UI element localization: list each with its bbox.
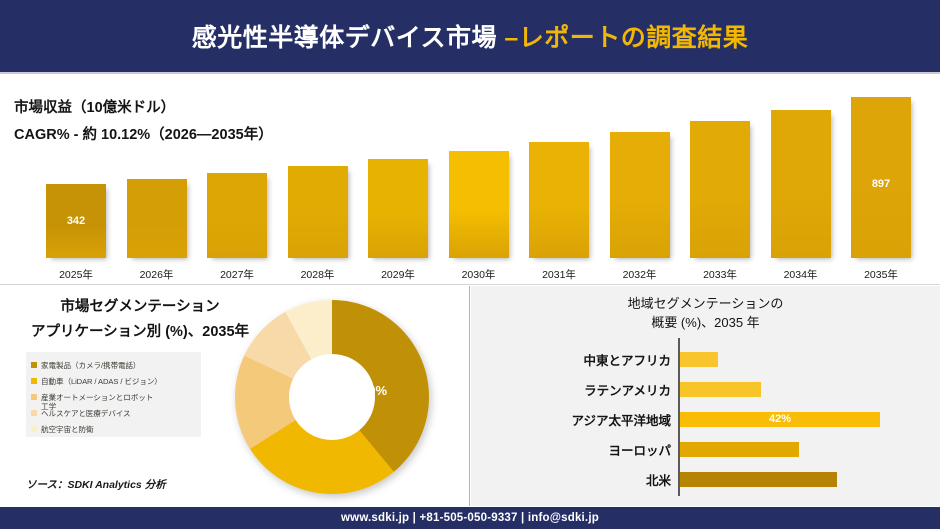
page-title-sub: –レポートの調査結果 <box>504 24 748 52</box>
regional-bar <box>680 352 718 367</box>
revenue-bar <box>449 151 509 258</box>
page-header: 感光性半導体デバイス市場 –レポートの調査結果 <box>0 0 940 74</box>
legend-item-overlap-label: 工学 <box>41 401 56 412</box>
legend-item: ヘルスケアと医療デバイス工学 <box>31 405 197 421</box>
regional-chart-title-line2: 概要 (%)、2035 年 <box>471 313 940 332</box>
application-chart-legend: 家電製品（カメラ/携帯電話）自動車（LiDAR / ADAS / ビジョン）産業… <box>26 352 201 437</box>
legend-item: 航空宇宙と防衛 <box>31 421 197 437</box>
application-chart-title: 市場セグメンテーション アプリケーション別 (%)、2035年 <box>10 295 270 345</box>
revenue-bar <box>207 173 267 258</box>
legend-item-label: 家電製品（カメラ/携帯電話） <box>41 360 140 371</box>
source-note: ソース：SDKI Analytics 分析 <box>26 477 166 492</box>
revenue-bar-wrapper <box>610 88 670 258</box>
revenue-bar-column: 8972035年 <box>841 76 921 285</box>
revenue-bar-wrapper <box>449 88 509 258</box>
revenue-bar-chart-panel: 市場収益（10億米ドル） CAGR% - 約 10.12%（2026—2035年… <box>0 76 940 285</box>
regional-category-label: アジア太平洋地域 <box>471 410 671 429</box>
revenue-bar-wrapper: 342 <box>46 88 106 258</box>
revenue-bar-wrapper <box>127 88 187 258</box>
regional-bar-row: 北米 <box>471 464 940 494</box>
legend-color-swatch <box>31 362 37 368</box>
regional-chart-title: 地域セグメンテーションの 概要 (%)、2035 年 <box>471 294 940 332</box>
legend-item: 家電製品（カメラ/携帯電話） <box>31 357 197 373</box>
legend-item-label: 航空宇宙と防衛 <box>41 424 93 435</box>
regional-bars-area: 中東とアフリカラテンアメリカアジア太平洋地域42%ヨーロッパ北米 <box>471 338 940 498</box>
revenue-bar <box>690 121 750 258</box>
regional-bar <box>680 472 837 487</box>
revenue-bar-category-label: 2033年 <box>703 265 737 285</box>
legend-item: 自動車（LiDAR / ADAS / ビジョン） <box>31 373 197 389</box>
legend-color-swatch <box>31 378 37 384</box>
revenue-bar-column: 2034年 <box>761 76 841 285</box>
revenue-bar-column: 2031年 <box>519 76 599 285</box>
revenue-bar-category-label: 2027年 <box>220 265 254 285</box>
revenue-bar <box>610 132 670 258</box>
regional-bar-row: ラテンアメリカ <box>471 374 940 404</box>
application-chart-title-line2: アプリケーション別 (%)、2035年 <box>10 320 270 345</box>
legend-item-label: 産業オートメーションとロボット <box>41 392 153 403</box>
regional-bar-row: アジア太平洋地域42% <box>471 404 940 434</box>
legend-color-swatch <box>31 410 37 416</box>
page-footer: www.sdki.jp | +81-505-050-9337 | info@sd… <box>0 507 940 529</box>
regional-bar-row: ヨーロッパ <box>471 434 940 464</box>
regional-bar <box>680 442 799 457</box>
application-segmentation-panel: 市場セグメンテーション アプリケーション別 (%)、2035年 家電製品（カメラ… <box>0 286 470 506</box>
revenue-bar-column: 2033年 <box>680 76 760 285</box>
regional-category-label: 中東とアフリカ <box>471 350 671 369</box>
revenue-bar-category-label: 2035年 <box>864 265 898 285</box>
infographic-page: 感光性半導体デバイス市場 –レポートの調査結果 市場収益（10億米ドル） CAG… <box>0 0 940 529</box>
revenue-bar-column: 2027年 <box>197 76 277 285</box>
regional-category-label: ヨーロッパ <box>471 440 671 459</box>
page-title: 感光性半導体デバイス市場 –レポートの調査結果 <box>192 18 749 54</box>
revenue-bar-category-label: 2031年 <box>542 265 576 285</box>
footer-contact-text: www.sdki.jp | +81-505-050-9337 | info@sd… <box>341 512 599 524</box>
revenue-bar-wrapper <box>771 88 831 258</box>
revenue-bar-column: 2028年 <box>278 76 358 285</box>
revenue-bar-value-label: 342 <box>46 215 106 227</box>
regional-chart-title-line1: 地域セグメンテーションの <box>471 294 940 313</box>
regional-category-label: 北米 <box>471 470 671 489</box>
revenue-bar-column: 2026年 <box>117 76 197 285</box>
revenue-bar-category-label: 2029年 <box>381 265 415 285</box>
application-donut-chart: 39% <box>235 300 429 494</box>
regional-bar-row: 中東とアフリカ <box>471 344 940 374</box>
revenue-bar-column: 2029年 <box>358 76 438 285</box>
revenue-bar-category-label: 2030年 <box>462 265 496 285</box>
legend-color-swatch <box>31 426 37 432</box>
application-chart-title-line1: 市場セグメンテーション <box>10 295 270 320</box>
regional-bar <box>680 382 761 397</box>
revenue-bar <box>127 179 187 258</box>
regional-segmentation-panel: 地域セグメンテーションの 概要 (%)、2035 年 中東とアフリカラテンアメリ… <box>471 286 940 506</box>
revenue-bar-category-label: 2025年 <box>59 265 93 285</box>
regional-bar-value-label: 42% <box>680 412 880 427</box>
revenue-bar-category-label: 2026年 <box>140 265 174 285</box>
revenue-bar-column: 2030年 <box>439 76 519 285</box>
revenue-bar-wrapper <box>529 88 589 258</box>
revenue-bar-category-label: 2028年 <box>301 265 335 285</box>
revenue-bar-category-label: 2032年 <box>623 265 657 285</box>
donut-value-label: 39% <box>361 383 387 398</box>
legend-color-swatch <box>31 394 37 400</box>
revenue-bar-wrapper <box>368 88 428 258</box>
revenue-bar-wrapper <box>288 88 348 258</box>
revenue-bar <box>288 166 348 258</box>
revenue-bar-wrapper: 897 <box>851 88 911 258</box>
page-title-main: 感光性半導体デバイス市場 <box>192 24 505 52</box>
revenue-bar <box>771 110 831 258</box>
revenue-bar-column: 3422025年 <box>36 76 116 285</box>
revenue-bar <box>529 142 589 258</box>
revenue-bar-wrapper <box>207 88 267 258</box>
legend-item-label: 自動車（LiDAR / ADAS / ビジョン） <box>41 376 162 387</box>
revenue-bar-category-label: 2034年 <box>784 265 818 285</box>
revenue-bar <box>368 159 428 258</box>
revenue-bars-area: 3422025年2026年2027年2028年2029年2030年2031年20… <box>0 76 940 285</box>
revenue-bar-value-label: 897 <box>851 178 911 190</box>
revenue-bar-column: 2032年 <box>600 76 680 285</box>
revenue-bar-wrapper <box>690 88 750 258</box>
regional-category-label: ラテンアメリカ <box>471 380 671 399</box>
